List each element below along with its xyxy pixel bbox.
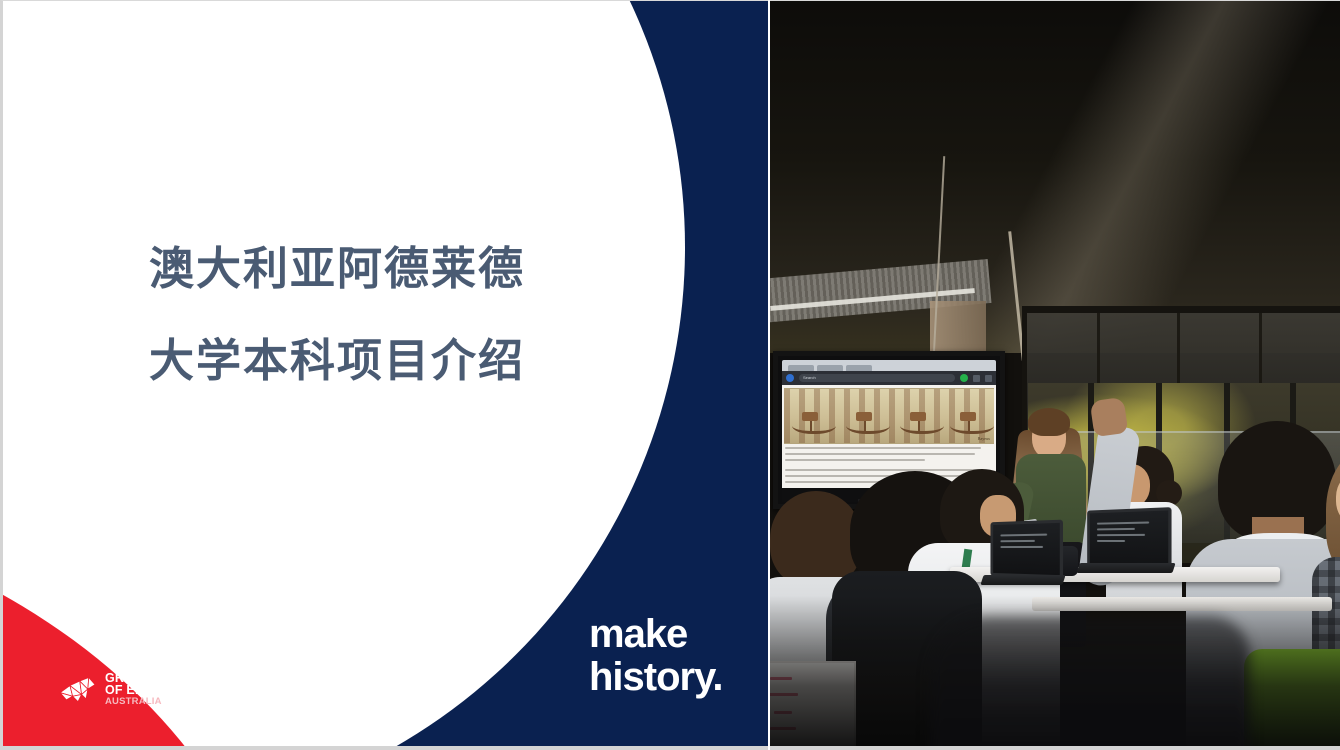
- laptop: [1078, 509, 1164, 573]
- go8-line-2: OF EIGHT: [105, 685, 166, 697]
- laptop: [982, 521, 1056, 579]
- group-of-eight-logo: GROUP OF EIGHT AUSTRALIA: [58, 673, 166, 708]
- search-input: Search: [799, 374, 955, 382]
- presentation-slide: 澳大利亚阿德莱德 大学本科项目介绍 make history.: [0, 0, 1340, 750]
- classroom-photo: Search: [770, 0, 1340, 750]
- make-history-logo: make history.: [589, 613, 723, 699]
- bayeux-tapestry-image: Bayeux: [784, 388, 994, 444]
- title-line-2: 大学本科项目介绍: [149, 315, 669, 407]
- tapestry-caption: Bayeux: [978, 436, 990, 441]
- raised-hand: [1090, 397, 1129, 437]
- page-title: 澳大利亚阿德莱德 大学本科项目介绍: [149, 223, 669, 407]
- group-of-eight-wordmark: GROUP OF EIGHT AUSTRALIA: [105, 673, 166, 708]
- photo-scene: Search: [770, 1, 1340, 746]
- toolbar-icon: [985, 375, 992, 382]
- record-icon: [960, 374, 968, 382]
- tagline-line-2: history.: [589, 655, 723, 699]
- browser-chrome-bar: [782, 360, 996, 371]
- toolbar-icon: [973, 375, 980, 382]
- go8-line-3: AUSTRALIA: [105, 696, 166, 708]
- australia-map-icon: [58, 673, 98, 707]
- tagline-line-1: make: [589, 613, 723, 655]
- foreground-blur: [930, 616, 1250, 750]
- title-line-1: 澳大利亚阿德莱德: [149, 223, 669, 315]
- left-content-panel: 澳大利亚阿德莱德 大学本科项目介绍 make history.: [0, 0, 768, 750]
- app-icon: [786, 374, 794, 382]
- app-toolbar: Search: [782, 371, 996, 385]
